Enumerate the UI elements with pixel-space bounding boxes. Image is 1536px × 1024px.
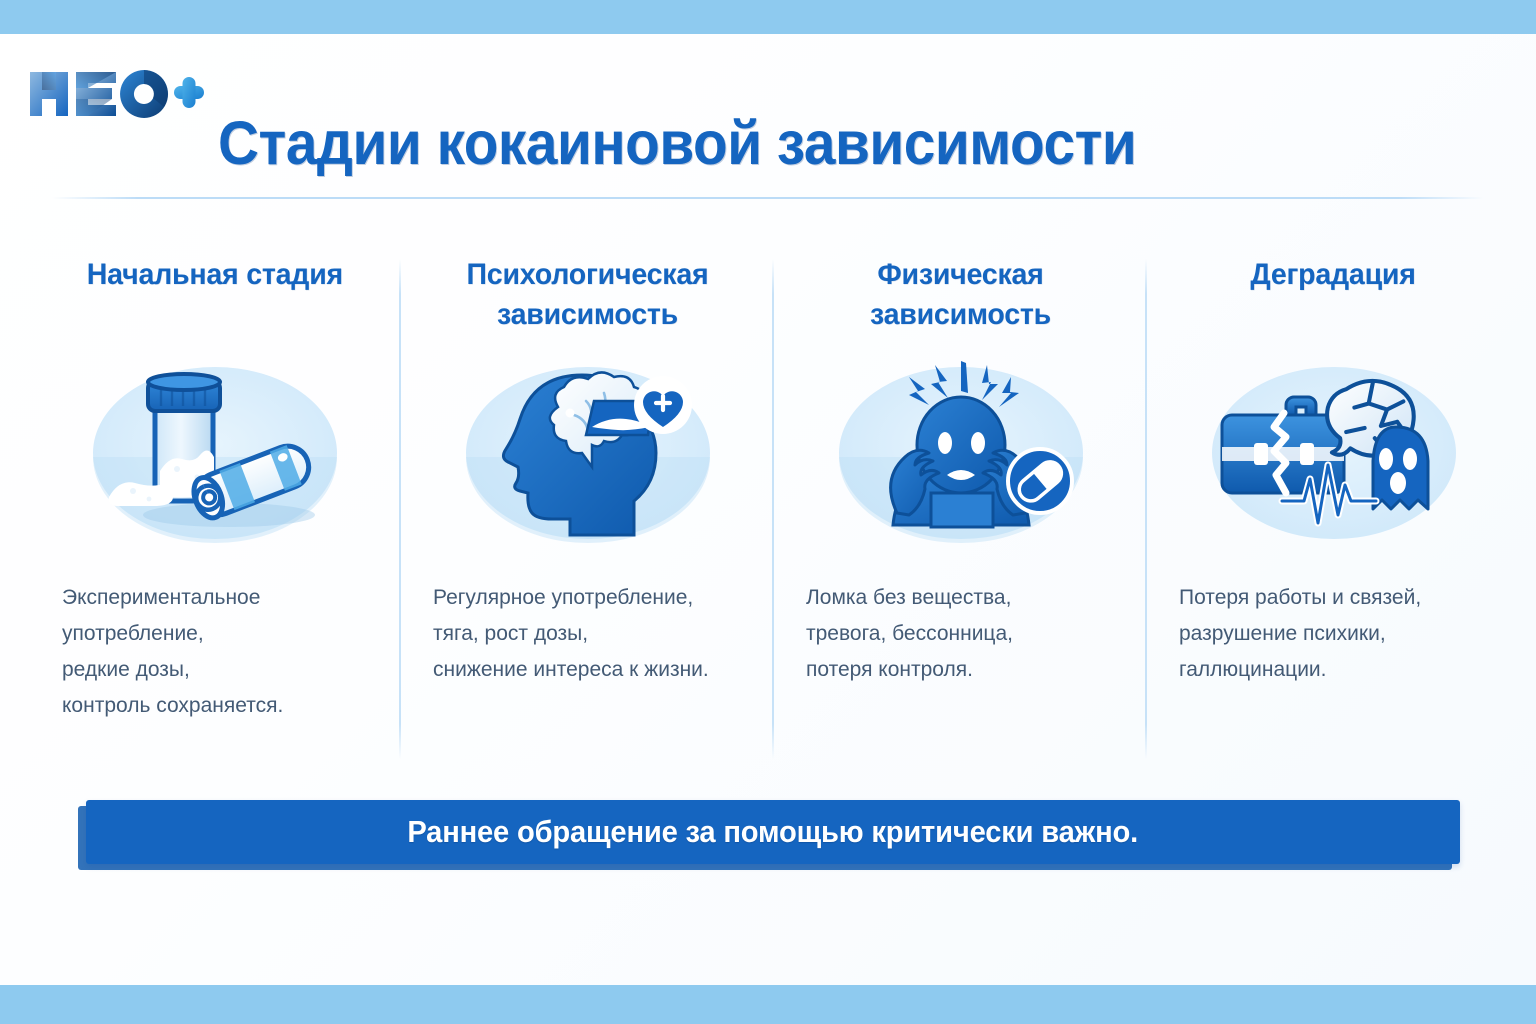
powder-jar-and-rolled-bill-icon (85, 345, 345, 560)
stages-row: Начальная стадия (0, 255, 1536, 765)
header: Стадии кокаиновой зависимости (0, 34, 1536, 198)
head-brain-with-heart-plus-icon (458, 345, 718, 560)
person-headache-with-pill-icon (831, 345, 1091, 560)
broken-briefcase-brain-ghost-icon (1204, 345, 1464, 560)
stage-title: Деградация (1251, 255, 1416, 339)
stage-description: Потеря работы и связей, разрушение психи… (1169, 580, 1421, 688)
neo-plus-logo (24, 62, 204, 126)
stage-title: Психологическая зависимость (431, 255, 744, 339)
stage-title: Физическая зависимость (804, 255, 1117, 339)
stage-description: Экспериментальное употребление, редкие д… (50, 580, 283, 724)
stage-card-initial: Начальная стадия (28, 255, 401, 765)
call-to-action-banner: Раннее обращение за помощью критически в… (78, 800, 1458, 870)
stage-description: Регулярное употребление, тяга, рост дозы… (423, 580, 709, 688)
stage-card-degradation: Деградация (1147, 255, 1520, 765)
header-divider (52, 197, 1484, 199)
bottom-accent-bar (0, 985, 1536, 1024)
infographic-poster: Стадии кокаиновой зависимости Начальная … (0, 0, 1536, 1024)
stage-description: Ломка без вещества, тревога, бессонница,… (796, 580, 1013, 688)
stage-card-psychological: Психологическая зависимость (401, 255, 774, 765)
banner-text: Раннее обращение за помощью критически в… (408, 814, 1139, 850)
top-accent-bar (0, 0, 1536, 34)
banner-body: Раннее обращение за помощью критически в… (86, 800, 1460, 864)
stage-card-physical: Физическая зависимость (774, 255, 1147, 765)
page-title: Стадии кокаиновой зависимости (218, 108, 1136, 178)
stage-title: Начальная стадия (86, 255, 342, 339)
